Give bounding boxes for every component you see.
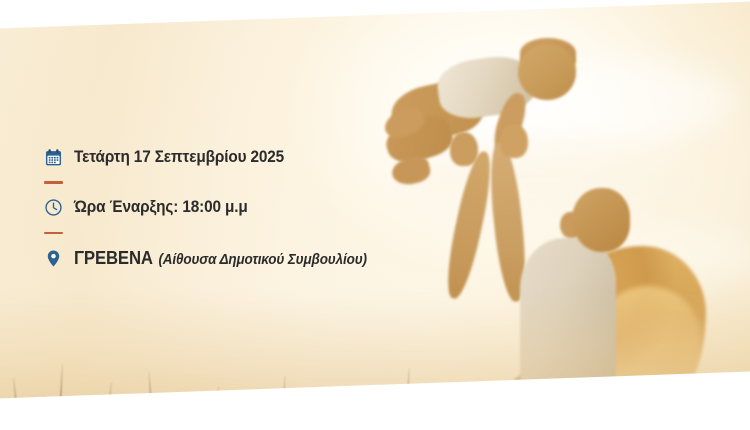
event-details-panel: Τετάρτη 17 Σεπτεμβρίου 2025 Ώρα Έναρξης:… [44,140,384,275]
mother-head-silhouette [572,188,630,252]
mother-left-arm-silhouette [441,149,498,301]
event-date-text: Τετάρτη 17 Σεπτεμβρίου 2025 [74,148,284,167]
divider-one [44,181,63,184]
foreground-grass [0,310,750,430]
divider-two [44,232,63,235]
event-time-row: Ώρα Έναρξης: 18:00 μ.μ [44,191,384,225]
event-venue-text-group: ΓΡΕΒΕΝΑ(Αίθουσα Δημοτικού Συμβουλίου) [74,248,367,269]
event-venue-hall: (Αίθουσα Δημοτικού Συμβουλίου) [158,252,366,268]
event-venue-row: ΓΡΕΒΕΝΑ(Αίθουσα Δημοτικού Συμβουλίου) [44,241,384,275]
event-venue-city: ΓΡΕΒΕΝΑ [74,248,153,268]
mother-right-hand-silhouette [500,124,528,158]
event-poster: Τετάρτη 17 Σεπτεμβρίου 2025 Ώρα Έναρξης:… [0,0,750,430]
baby-head-silhouette [518,44,576,100]
calendar-icon [44,148,63,167]
mother-left-hand-silhouette [450,132,478,166]
clock-icon [44,198,63,217]
location-pin-icon [44,249,63,268]
event-time-text: Ώρα Έναρξης: 18:00 μ.μ [74,198,248,217]
event-date-row: Τετάρτη 17 Σεπτεμβρίου 2025 [44,140,384,174]
